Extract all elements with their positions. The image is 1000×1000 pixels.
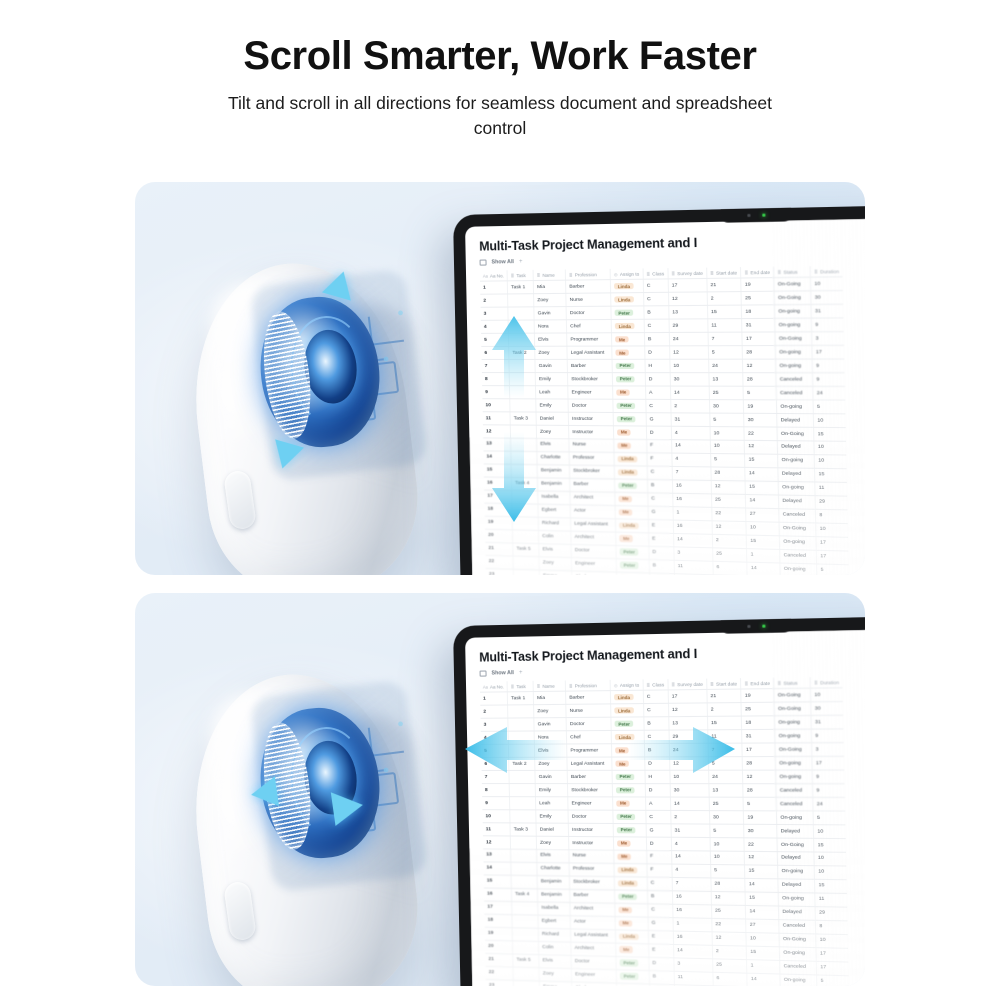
cell-class[interactable]: F	[646, 439, 671, 453]
cell-class[interactable]: B	[644, 333, 669, 346]
cell-start-date[interactable]: 22	[712, 507, 747, 521]
cell-assign-to[interactable]: Me	[614, 426, 647, 440]
column-header-assign-to[interactable]: ◎Assign to	[610, 268, 643, 279]
cell-status[interactable]: On-going	[779, 947, 816, 961]
cell-profession[interactable]: Chef	[567, 731, 612, 744]
cell-assign-to[interactable]: Peter	[612, 770, 645, 783]
cell-duration[interactable]: 10	[813, 414, 845, 428]
assignee-tag[interactable]: Peter	[617, 813, 636, 820]
cell-survey-date[interactable]: 10	[670, 359, 709, 372]
cell-status[interactable]: On-going	[777, 811, 814, 825]
assignee-tag[interactable]: Me	[616, 760, 630, 767]
cell-class[interactable]: D	[645, 784, 670, 797]
assignee-tag[interactable]: Peter	[616, 774, 635, 781]
cell-profession[interactable]: Doctor	[571, 955, 616, 969]
cell-start-date[interactable]: 6	[713, 972, 748, 986]
cell-profession[interactable]: Engineer	[571, 557, 616, 571]
cell-status[interactable]: Delayed	[777, 414, 814, 428]
cell-no[interactable]: 13	[483, 849, 511, 862]
spreadsheet-table[interactable]: AaAa No.≣Task≣Name≣Profession◎Assign to≣…	[480, 677, 851, 986]
cell-profession[interactable]: Chef	[567, 320, 612, 333]
cell-no[interactable]: 8	[482, 784, 510, 797]
cell-class[interactable]: A	[645, 386, 670, 399]
cell-duration[interactable]: 10	[814, 455, 846, 469]
assignee-tag[interactable]: Linda	[618, 867, 637, 874]
cell-assign-to[interactable]: Me	[613, 797, 646, 810]
cell-status[interactable]: On-going	[778, 454, 815, 468]
cell-name[interactable]: Elvis	[535, 333, 568, 346]
cell-end-date[interactable]: 12	[743, 770, 776, 784]
cell-no[interactable]: 9	[482, 797, 510, 810]
cell-duration[interactable]: 17	[812, 756, 844, 770]
cell-status[interactable]: On-Going	[777, 427, 814, 441]
cell-name[interactable]: Egbert	[538, 915, 571, 929]
cell-task[interactable]	[510, 399, 536, 412]
cell-start-date[interactable]: 13	[709, 373, 744, 387]
cell-name[interactable]: Nora	[534, 731, 567, 744]
cell-profession[interactable]: Professor	[569, 863, 614, 877]
cell-name[interactable]: Colin	[539, 941, 572, 955]
cell-end-date[interactable]: 15	[746, 946, 779, 960]
cell-profession[interactable]: Barber	[570, 889, 615, 903]
cell-duration[interactable]: 11	[815, 893, 847, 907]
cell-assign-to[interactable]: Me	[615, 492, 648, 506]
cell-start-date[interactable]: 25	[711, 494, 746, 508]
cell-end-date[interactable]: 28	[743, 373, 776, 387]
assignee-tag[interactable]: Me	[615, 747, 629, 754]
cell-class[interactable]: H	[645, 770, 670, 783]
cell-task[interactable]	[511, 464, 537, 477]
cell-status[interactable]: Delayed	[778, 879, 815, 893]
cell-no[interactable]: 19	[485, 927, 513, 941]
cell-name[interactable]: Gavin	[534, 718, 567, 731]
cell-end-date[interactable]: 14	[747, 973, 780, 986]
cell-no[interactable]: 8	[482, 373, 510, 386]
table-row[interactable]: 5ElvisProgrammerMeB24717On-Going3	[481, 743, 844, 758]
cell-survey-date[interactable]: 4	[672, 453, 711, 467]
cell-duration[interactable]: 3	[812, 743, 844, 757]
table-row[interactable]: 6Task 2ZoeyLegal AssistantMeD12528On-goi…	[481, 756, 844, 770]
cell-profession[interactable]: Doctor	[566, 717, 611, 731]
cell-start-date[interactable]: 7	[708, 332, 743, 346]
cell-no[interactable]: 13	[483, 438, 511, 451]
cell-survey-date[interactable]: 17	[668, 690, 707, 704]
cell-assign-to[interactable]: Linda	[614, 877, 647, 891]
cell-start-date[interactable]: 24	[708, 359, 743, 373]
cell-status[interactable]: On-going	[776, 770, 813, 784]
assignee-tag[interactable]: Peter	[617, 416, 636, 423]
cell-start-date[interactable]: 21	[707, 689, 742, 703]
cell-end-date[interactable]: 12	[744, 851, 777, 865]
cell-end-date[interactable]: 14	[745, 467, 778, 481]
column-header-start-date[interactable]: ≣Start date	[706, 678, 741, 690]
cell-assign-to[interactable]: Peter	[613, 824, 646, 838]
cell-duration[interactable]: 17	[816, 961, 848, 975]
show-all-button[interactable]: Show All	[491, 259, 514, 265]
cell-survey-date[interactable]: 11	[674, 560, 713, 574]
cell-class[interactable]: C	[644, 730, 669, 743]
cell-assign-to[interactable]: Me	[614, 850, 647, 864]
cell-start-date[interactable]: 12	[711, 480, 746, 494]
cell-end-date[interactable]: 31	[742, 730, 775, 744]
cell-no[interactable]: 5	[481, 744, 509, 757]
cell-name[interactable]: Emma	[539, 570, 572, 575]
cell-task[interactable]: Task 2	[509, 757, 535, 770]
cell-start-date[interactable]: 13	[709, 784, 744, 798]
cell-start-date[interactable]: 11	[708, 319, 743, 333]
cell-start-date[interactable]: 5	[708, 757, 743, 771]
cell-task[interactable]	[508, 718, 534, 731]
cell-survey-date[interactable]: 14	[673, 944, 712, 958]
cell-survey-date[interactable]: 2	[670, 810, 709, 824]
cell-assign-to[interactable]: Peter	[612, 784, 645, 797]
cell-status[interactable]: On-going	[776, 359, 813, 373]
cell-duration[interactable]: 31	[811, 715, 843, 729]
cell-survey-date[interactable]: 13	[668, 717, 707, 731]
table-row[interactable]: 8EmilyStockbrokerPeterD301328Canceled9	[482, 784, 845, 798]
cell-no[interactable]: 22	[486, 966, 514, 980]
cell-task[interactable]: Task 1	[507, 281, 533, 294]
cell-end-date[interactable]: 14	[747, 562, 780, 575]
cell-no[interactable]: 15	[484, 464, 512, 477]
cell-start-date[interactable]: 12	[712, 521, 747, 535]
cell-no[interactable]: 18	[485, 914, 513, 928]
cell-start-date[interactable]: 25	[712, 548, 747, 562]
cell-start-date[interactable]: 25	[711, 905, 746, 919]
cell-end-date[interactable]: 22	[744, 427, 777, 441]
cell-no[interactable]: 17	[484, 490, 512, 504]
cell-start-date[interactable]: 5	[708, 346, 743, 360]
cell-no[interactable]: 11	[483, 412, 511, 425]
cell-end-date[interactable]: 28	[743, 784, 776, 798]
assignee-tag[interactable]: Linda	[619, 933, 638, 940]
cell-task[interactable]: Task 5	[513, 543, 539, 557]
cell-end-date[interactable]: 30	[744, 413, 777, 427]
cell-name[interactable]: Daniel	[536, 412, 569, 425]
cell-no[interactable]: 20	[485, 940, 513, 954]
cell-duration[interactable]: 8	[815, 509, 847, 523]
cell-duration[interactable]: 9	[811, 729, 843, 743]
cell-name[interactable]: Gavin	[535, 359, 568, 372]
cell-name[interactable]: Emma	[539, 981, 572, 986]
cell-status[interactable]: Canceled	[776, 797, 813, 811]
cell-task[interactable]	[509, 784, 535, 797]
cell-start-date[interactable]: 21	[707, 278, 742, 292]
assignee-tag[interactable]: Me	[616, 349, 630, 356]
cell-no[interactable]: 5	[481, 333, 509, 346]
assignee-tag[interactable]: Me	[619, 495, 633, 502]
cell-profession[interactable]: Instructor	[569, 425, 614, 439]
cell-survey-date[interactable]: 2	[670, 399, 709, 413]
cell-assign-to[interactable]: Me	[612, 744, 645, 757]
cell-task[interactable]	[510, 386, 536, 399]
cell-end-date[interactable]: 14	[745, 878, 778, 892]
cell-assign-to[interactable]: Linda	[616, 519, 649, 533]
cell-no[interactable]: 19	[485, 516, 513, 530]
cell-status[interactable]: On-going	[777, 400, 814, 414]
cell-profession[interactable]: Engineer	[568, 797, 613, 810]
assignee-tag[interactable]: Me	[617, 840, 631, 847]
cell-task[interactable]	[511, 451, 537, 464]
cell-survey-date[interactable]: 29	[669, 319, 708, 333]
column-header-aa-no[interactable]: AaAa No.	[480, 681, 508, 692]
cell-assign-to[interactable]: Linda	[611, 293, 644, 307]
cell-assign-to[interactable]: Peter	[616, 970, 649, 984]
cell-duration[interactable]: 9	[812, 770, 844, 784]
cell-status[interactable]: Canceled	[780, 549, 817, 564]
cell-class[interactable]: H	[649, 573, 674, 575]
cell-assign-to[interactable]: Linda	[617, 983, 650, 986]
cell-name[interactable]: Zoey	[539, 557, 572, 571]
cell-profession[interactable]: Stockbroker	[570, 876, 615, 890]
cell-task[interactable]	[509, 333, 535, 346]
cell-task[interactable]	[512, 490, 538, 504]
cell-task[interactable]	[513, 569, 539, 575]
assignee-tag[interactable]: Me	[618, 853, 632, 860]
cell-assign-to[interactable]: Linda	[614, 452, 647, 466]
cell-duration[interactable]: 30	[811, 702, 843, 716]
table-row[interactable]: 7GavinBarberPeterH102412On-going9	[482, 770, 845, 784]
cell-task[interactable]: Task 2	[509, 346, 535, 359]
cell-no[interactable]: 17	[484, 901, 512, 915]
cell-class[interactable]: B	[644, 744, 669, 757]
cell-class[interactable]: A	[645, 797, 670, 810]
cell-class[interactable]: F	[647, 864, 672, 878]
cell-survey-date[interactable]: 30	[670, 784, 709, 797]
assignee-tag[interactable]: Peter	[616, 376, 635, 383]
cell-no[interactable]: 3	[481, 307, 509, 320]
cell-profession[interactable]: Architect	[571, 942, 616, 956]
cell-class[interactable]: F	[647, 453, 672, 467]
assignee-tag[interactable]: Me	[619, 920, 633, 927]
cell-task[interactable]	[513, 556, 539, 570]
cell-assign-to[interactable]: Peter	[611, 717, 644, 731]
scroll-wheel[interactable]	[252, 290, 387, 453]
cell-start-date[interactable]: 2	[707, 292, 742, 306]
cell-status[interactable]: On-going	[779, 536, 816, 550]
cell-assign-to[interactable]: Linda	[614, 863, 647, 877]
cell-end-date[interactable]: 22	[744, 838, 777, 852]
cell-start-date[interactable]: 24	[708, 770, 743, 784]
cell-status[interactable]: On-going	[778, 892, 815, 906]
cell-end-date[interactable]: 19	[744, 811, 777, 825]
cell-duration[interactable]: 15	[814, 427, 846, 441]
cell-profession[interactable]: Chef	[572, 982, 617, 986]
cell-name[interactable]: Zoey	[536, 836, 569, 849]
cell-profession[interactable]: Barber	[566, 691, 611, 705]
assignee-tag[interactable]: Me	[619, 906, 633, 913]
cell-start-date[interactable]: 2	[712, 534, 747, 548]
cell-assign-to[interactable]: Me	[615, 916, 648, 930]
assignee-tag[interactable]: Linda	[615, 323, 634, 330]
cell-task[interactable]	[510, 797, 536, 810]
cell-end-date[interactable]: 15	[746, 535, 779, 549]
column-header-class[interactable]: ≣Class	[643, 679, 668, 690]
cell-task[interactable]: Task 4	[512, 477, 538, 491]
cell-duration[interactable]: 24	[813, 797, 845, 811]
cell-name[interactable]: Benjamin	[538, 889, 571, 903]
table-body[interactable]: 1Task 1MiaBarberLindaC172119On-Going102Z…	[480, 688, 851, 986]
cell-duration[interactable]: 5	[813, 400, 845, 414]
cell-task[interactable]	[513, 980, 539, 986]
cell-survey-date[interactable]: 31	[671, 824, 710, 838]
cell-task[interactable]	[512, 517, 538, 531]
cell-duration[interactable]: 10	[814, 852, 846, 866]
cell-class[interactable]: D	[646, 837, 671, 851]
cell-end-date[interactable]: 1	[747, 959, 780, 973]
cell-status[interactable]: On-going	[775, 757, 812, 771]
cell-name[interactable]: Zoey	[534, 294, 567, 307]
cell-duration[interactable]: 15	[815, 879, 847, 893]
cell-assign-to[interactable]: Linda	[611, 704, 644, 718]
cell-name[interactable]: Elvis	[537, 849, 570, 863]
cell-task[interactable]	[510, 836, 536, 849]
cell-no[interactable]: 15	[484, 875, 512, 888]
cell-name[interactable]: Zoey	[539, 968, 572, 982]
assignee-tag[interactable]: Linda	[615, 734, 634, 741]
cell-status[interactable]: On-going	[774, 716, 811, 730]
cell-no[interactable]: 6	[481, 757, 509, 770]
cell-assign-to[interactable]: Me	[612, 757, 645, 770]
cell-survey-date[interactable]: 7	[672, 466, 711, 480]
cell-status[interactable]: On-Going	[774, 688, 811, 702]
cell-duration[interactable]: 3	[812, 332, 844, 346]
assignee-tag[interactable]: Linda	[618, 456, 637, 463]
cell-end-date[interactable]: 15	[745, 892, 778, 906]
cell-class[interactable]: E	[648, 519, 673, 533]
assignee-tag[interactable]: Linda	[614, 296, 633, 303]
assignee-tag[interactable]: Me	[616, 389, 630, 396]
cell-status[interactable]: Delayed	[779, 495, 816, 509]
cell-start-date[interactable]: 28	[711, 467, 746, 481]
column-header-name[interactable]: ≣Name	[533, 269, 565, 280]
cell-name[interactable]: Leah	[536, 797, 569, 810]
cell-survey-date[interactable]: 14	[671, 440, 710, 454]
cell-profession[interactable]: Barber	[570, 478, 615, 492]
cell-class[interactable]: D	[649, 546, 674, 560]
cell-assign-to[interactable]: Me	[615, 505, 648, 519]
cell-task[interactable]	[512, 901, 538, 915]
table-row[interactable]: 8EmilyStockbrokerPeterD301328Canceled9	[482, 373, 845, 387]
cell-survey-date[interactable]: 16	[672, 493, 711, 507]
cell-end-date[interactable]: 17	[742, 332, 775, 346]
cell-class[interactable]: B	[644, 717, 669, 731]
cell-end-date[interactable]: 1	[747, 548, 780, 562]
cell-class[interactable]: G	[648, 917, 673, 931]
cell-duration[interactable]: 29	[815, 496, 847, 510]
cell-start-date[interactable]: 30	[709, 400, 744, 414]
cell-profession[interactable]: Actor	[570, 916, 615, 930]
cell-survey-date[interactable]: 10	[670, 770, 709, 783]
cell-survey-date[interactable]: 24	[669, 743, 708, 757]
cell-no[interactable]: 2	[480, 294, 508, 307]
cell-profession[interactable]: Engineer	[568, 386, 613, 399]
cell-end-date[interactable]: 5	[743, 386, 776, 400]
cell-end-date[interactable]: 19	[741, 278, 774, 292]
cell-task[interactable]	[509, 373, 535, 386]
cell-survey-date[interactable]: 17	[674, 985, 713, 986]
cell-status[interactable]: Delayed	[779, 906, 816, 920]
cell-assign-to[interactable]: Me	[616, 943, 649, 957]
cell-no[interactable]: 21	[485, 953, 513, 967]
cell-no[interactable]: 1	[480, 281, 508, 294]
cell-start-date[interactable]: 5	[710, 824, 745, 838]
cell-class[interactable]: G	[646, 824, 671, 838]
cell-start-date[interactable]: 5	[710, 413, 745, 427]
cell-profession[interactable]: Legal Assistant	[567, 757, 612, 770]
cell-assign-to[interactable]: Peter	[612, 373, 645, 386]
assignee-tag[interactable]: Linda	[614, 283, 633, 290]
cell-duration[interactable]: 5	[817, 564, 849, 575]
cell-no[interactable]: 12	[483, 425, 511, 438]
column-header-task[interactable]: ≣Task	[507, 270, 533, 281]
cell-class[interactable]: B	[649, 970, 674, 984]
cell-start-date[interactable]: 10	[710, 427, 745, 441]
cell-assign-to[interactable]: Me	[612, 346, 645, 359]
cell-profession[interactable]: Legal Assistant	[571, 518, 616, 532]
cell-duration[interactable]: 15	[815, 468, 847, 482]
cell-task[interactable]	[509, 744, 535, 757]
cell-task[interactable]: Task 3	[510, 412, 536, 425]
cell-task[interactable]	[509, 360, 535, 373]
cell-no[interactable]: 7	[482, 771, 510, 784]
assignee-tag[interactable]: Peter	[620, 973, 639, 980]
cell-duration[interactable]: 17	[816, 948, 848, 962]
cell-name[interactable]: Elvis	[539, 544, 572, 558]
cell-assign-to[interactable]: Peter	[616, 559, 649, 573]
cell-class[interactable]: C	[647, 877, 672, 891]
assignee-tag[interactable]: Peter	[620, 960, 639, 967]
cell-name[interactable]: Charlotte	[537, 451, 570, 465]
assignee-tag[interactable]: Peter	[618, 482, 637, 489]
column-header-aa-no[interactable]: AaAa No.	[480, 270, 508, 281]
cell-class[interactable]: C	[643, 690, 668, 704]
assignee-tag[interactable]: Me	[618, 442, 632, 449]
cell-profession[interactable]: Doctor	[568, 399, 613, 412]
cell-status[interactable]: Canceled	[780, 960, 817, 975]
cell-start-date[interactable]: 2	[707, 703, 742, 717]
cell-no[interactable]: 23	[486, 568, 514, 575]
cell-survey-date[interactable]: 16	[672, 480, 711, 494]
cell-status[interactable]: On-Going	[777, 838, 814, 852]
cell-profession[interactable]: Programmer	[567, 744, 612, 757]
cell-end-date[interactable]: 19	[744, 400, 777, 414]
cell-no[interactable]: 10	[482, 399, 510, 412]
cell-class[interactable]: B	[647, 890, 672, 904]
cell-task[interactable]	[509, 771, 535, 784]
assignee-tag[interactable]: Me	[616, 800, 630, 807]
cell-status[interactable]: On-Going	[779, 522, 816, 536]
cell-no[interactable]: 21	[485, 542, 513, 556]
cell-status[interactable]: On-Going	[779, 933, 816, 947]
column-header-profession[interactable]: ≣Profession	[565, 269, 610, 280]
cell-duration[interactable]: 10	[810, 277, 842, 291]
cell-name[interactable]: Benjamin	[537, 876, 570, 890]
cell-start-date[interactable]: 15	[707, 305, 742, 319]
cell-class[interactable]: H	[649, 984, 674, 986]
cell-start-date[interactable]: 12	[711, 891, 746, 905]
cell-name[interactable]: Emily	[535, 373, 568, 386]
cell-end-date[interactable]: 18	[742, 305, 775, 319]
cell-assign-to[interactable]: Linda	[611, 279, 644, 293]
cell-name[interactable]: Zoey	[535, 757, 568, 770]
assignee-tag[interactable]: Linda	[614, 707, 633, 714]
assignee-tag[interactable]: Peter	[620, 562, 639, 569]
cell-name[interactable]: Charlotte	[537, 862, 570, 876]
cell-profession[interactable]: Legal Assistant	[571, 929, 616, 943]
cell-survey-date[interactable]: 14	[671, 851, 710, 865]
cell-assign-to[interactable]: Peter	[612, 359, 645, 372]
